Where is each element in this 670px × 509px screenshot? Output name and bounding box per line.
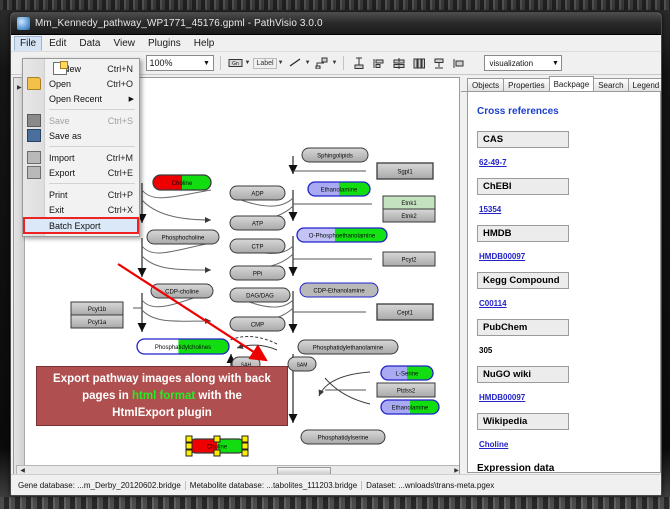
chevron-down-icon[interactable]: ▼ [278,60,284,66]
file-menu-item-label: Save as [49,131,139,141]
node-label: Phosphatidylcholines [155,345,211,351]
xref-label-nugo-wiki: NuGO wiki [477,366,569,383]
file-menu-item-batch-export[interactable]: Batch Export [23,217,139,234]
side-panel: Objects Properties Backpage Search Legen… [460,75,662,475]
align-left-icon[interactable] [370,55,387,72]
toolbar-separator [220,56,221,70]
metabolite-node-cdp-ethanolamine[interactable]: CDP-Ethanolamine [300,283,378,297]
chevron-down-icon: ▼ [549,56,561,70]
xref-value-chebi[interactable]: 15354 [479,205,501,214]
metabolite-node-ethanolamine-bottom[interactable]: Ethanolamine [381,400,439,414]
status-bar: Gene database: ...m_Derby_20120602.bridg… [11,474,662,495]
node-label: Choline [172,181,193,187]
status-dataset: Dataset: ...wnloads\trans-meta.pgex [362,481,498,490]
stack-vertical-icon[interactable] [410,55,427,72]
menu-plugins[interactable]: Plugins [142,36,187,51]
chevron-down-icon: ▼ [201,56,213,70]
callout-line-3: HtmlExport plugin [112,405,212,422]
gene-node-pcyt1b[interactable]: Pcyt1b [71,302,123,315]
node-label: Ethanolamine [392,406,429,412]
xref-value-kegg-compound[interactable]: C00114 [479,299,507,308]
group-elements-icon[interactable] [450,55,467,72]
file-menu-item-open[interactable]: OpenCtrl+O [23,76,139,91]
open-folder-icon [27,77,41,90]
gene-node-etnk1[interactable]: Etnk1 [383,196,435,209]
selection-handle[interactable] [214,436,220,442]
file-menu-item-label: Save [49,116,108,126]
backpage-content: Cross references CAS62-49-7ChEBI15354HMD… [467,92,661,473]
label-tool-button[interactable]: Label [253,58,276,69]
pathvisio-window: Mm_Kennedy_pathway_WP1771_45176.gpml - P… [10,12,662,496]
file-menu-popup[interactable]: NewCtrl+NOpenCtrl+OOpen Recent▶SaveCtrl+… [22,58,140,237]
gene-node-pcyt1a[interactable]: Pcyt1a [71,315,123,328]
node-label: Cept1 [397,311,414,317]
metabolite-node-sam-1[interactable]: SAM [288,357,316,371]
visualization-combobox[interactable]: visualization ▼ [484,55,562,71]
file-menu-item-label: New [63,64,107,74]
node-label: Phosphatidylserine [318,436,369,442]
tab-backpage[interactable]: Backpage [549,76,595,91]
import-icon [27,151,41,164]
metabolite-node-adp[interactable]: ADP [230,186,285,200]
status-metabolite-database: Metabolite database: ...tabolites_111203… [186,481,362,490]
export-icon [27,166,41,179]
node-label: O-Phosphoethanolamine [309,234,376,240]
annotation-callout: Export pathway images along with back pa… [36,366,288,426]
gene-shape-dropdown[interactable]: Gn ▼ [227,55,251,72]
metabolite-node-phosphocholine[interactable]: Phosphocholine [147,230,219,244]
gene-shape-svg: Gn [228,57,243,69]
status-gene-database: Gene database: ...m_Derby_20120602.bridg… [14,481,186,490]
selection-handle[interactable] [214,450,220,456]
node-label: Pcyt1a [88,320,107,326]
node-label: L-Serine [396,372,419,378]
file-menu-item-export[interactable]: ExportCtrl+E [23,165,139,180]
menu-help[interactable]: Help [188,36,221,51]
file-menu-item-label: Exit [49,205,108,215]
new-document-icon [53,62,67,75]
svg-text:Gn: Gn [232,61,239,67]
selection-handle[interactable] [186,450,192,456]
callout-line-1: Export pathway images along with back [53,371,271,388]
metabolite-node-phosphatidylcholines[interactable]: Phosphatidylcholines [137,339,229,354]
selection-handle[interactable] [242,450,248,456]
cross-references-heading: Cross references [477,106,651,117]
file-menu-item-accelerator: Ctrl+X [108,205,139,215]
metabolite-node-choline-selected[interactable]: Choline [186,436,248,456]
file-menu-item-open-recent[interactable]: Open Recent▶ [23,91,139,106]
menu-separator [49,183,135,184]
xref-label-wikipedia: Wikipedia [477,413,569,430]
tab-search[interactable]: Search [593,78,628,91]
node-label: Etnk2 [401,214,417,220]
zoom-value: 100% [150,58,173,68]
side-panel-tabs: Objects Properties Backpage Search Legen… [461,77,661,92]
chevron-down-icon[interactable]: ▼ [332,60,338,66]
expression-data-heading: Expression data [477,463,651,473]
file-menu-item-save-as[interactable]: Save as [23,128,139,143]
interaction-tool-dropdown[interactable]: ▼ [314,55,338,72]
node-label: Sphingolipids [317,154,353,160]
metabolite-node-ppi[interactable]: PPi [230,266,285,280]
node-label: PPi [253,272,262,278]
node-label: DAG/DAG [246,294,274,300]
selection-handle[interactable] [186,436,192,442]
node-label: Etnk1 [401,201,417,207]
menu-edit[interactable]: Edit [43,36,72,51]
align-top-icon[interactable] [350,55,367,72]
chevron-down-icon[interactable]: ▼ [245,60,251,66]
metabolite-node-cmp[interactable]: CMP [230,317,285,331]
visualization-value: visualization [489,59,533,68]
file-menu-item-exit[interactable]: ExitCtrl+X [23,202,139,217]
xref-label-cas: CAS [477,131,569,148]
xref-value-nugo-wiki[interactable]: HMDB00097 [479,393,525,402]
file-menu-item-import[interactable]: ImportCtrl+M [23,150,139,165]
selection-handle[interactable] [242,436,248,442]
submenu-arrow-icon: ▶ [129,95,139,103]
metabolite-node-ethanolamine-top[interactable]: Ethanolamine [308,182,370,196]
metabolite-node-phosphatidylethanolamine[interactable]: Phosphatidylethanolamine [298,340,398,354]
file-menu-item-accelerator: Ctrl+M [106,153,139,163]
file-menu-item-print[interactable]: PrintCtrl+P [23,187,139,202]
align-bottom-icon[interactable] [430,55,447,72]
menu-bar: File Edit Data View Plugins Help [11,35,661,52]
callout-highlight: html format [132,390,195,402]
cross-reference-list: CAS62-49-7ChEBI15354HMDBHMDB00097Kegg Co… [477,131,651,460]
line-tool-dropdown[interactable]: ▼ [287,55,311,72]
line-tool-icon[interactable] [287,55,304,72]
node-label: SAM [297,363,308,369]
gene-node-ptdss2[interactable]: Ptdss2 [377,383,435,397]
menu-view[interactable]: View [107,36,141,51]
file-menu-item-label: Open Recent [49,94,129,104]
node-label: Sgpl1 [397,170,413,176]
gene-node-sgpl1[interactable]: Sgpl1 [377,163,433,179]
selection-handle[interactable] [242,443,248,449]
metabolite-node-atp[interactable]: ATP [230,216,285,230]
label-tool-dropdown[interactable]: Label ▼ [253,58,283,69]
file-menu-item-accelerator: Ctrl+S [108,116,139,126]
gene-node-pcyt2[interactable]: Pcyt2 [383,252,435,266]
save-disk-icon [27,114,41,127]
gene-shape-icon[interactable]: Gn [227,55,244,72]
menu-separator [49,109,135,110]
node-label: ATP [252,222,263,228]
node-label: Ethanolamine [321,188,358,194]
desktop-bottom-noise [0,497,670,509]
node-label: Ptdss2 [397,389,416,395]
metabolite-node-ctp[interactable]: CTP [230,239,285,253]
align-center-v-icon[interactable] [390,55,407,72]
gene-node-etnk2[interactable]: Etnk2 [383,209,435,222]
node-label: CDP-choline [165,290,199,296]
file-menu-item-label: Open [49,79,107,89]
file-menu-item-new[interactable]: NewCtrl+N [23,61,139,76]
metabolite-node-dag-dag[interactable]: DAG/DAG [230,288,290,302]
file-menu-item-accelerator: Ctrl+O [107,79,139,89]
toolbar-separator [343,56,344,70]
file-menu-item-label: Import [49,153,106,163]
metabolite-node-o-phosphoethanolamine[interactable]: O-Phosphoethanolamine [297,228,387,242]
metabolite-node-sphingolipids[interactable]: Sphingolipids [302,148,368,162]
pathvisio-icon [17,17,30,30]
metabolite-node-l-serine[interactable]: L-Serine [381,366,433,380]
callout-line-2: pages in html format with the [82,388,242,405]
tab-properties[interactable]: Properties [503,78,549,91]
file-menu-item-accelerator: Ctrl+N [107,64,139,74]
menu-file[interactable]: File [14,36,42,51]
xref-value-pubchem: 305 [479,346,492,355]
desktop-top-noise [0,0,670,10]
metabolite-node-phosphatidylserine[interactable]: Phosphatidylserine [301,430,385,444]
window-title: Mm_Kennedy_pathway_WP1771_45176.gpml - P… [35,18,323,29]
xref-label-hmdb: HMDB [477,225,569,242]
xref-value-cas[interactable]: 62-49-7 [479,158,507,167]
file-menu-item-label: Print [49,190,108,200]
node-label: Pcyt1b [88,307,107,313]
save-as-icon [27,129,41,142]
node-label: CMP [251,323,264,329]
xref-value-wikipedia[interactable]: Choline [479,440,508,449]
node-label: CDP-Ethanolamine [313,289,365,295]
node-label: Pcyt2 [401,258,417,264]
menu-separator [49,146,135,147]
tab-legend[interactable]: Legend [628,78,662,91]
file-menu-item-accelerator: Ctrl+E [108,168,139,178]
metabolite-node-cdp-choline[interactable]: CDP-choline [151,284,213,298]
node-label: Phosphatidylethanolamine [313,346,384,352]
screenshot-root: Mm_Kennedy_pathway_WP1771_45176.gpml - P… [0,0,670,509]
title-bar: Mm_Kennedy_pathway_WP1771_45176.gpml - P… [11,13,661,35]
file-menu-item-label: Export [49,168,108,178]
selection-handle[interactable] [186,443,192,449]
xref-label-kegg-compound: Kegg Compound [477,272,569,289]
tab-objects[interactable]: Objects [467,78,504,91]
node-label: Phosphocholine [162,236,205,242]
xref-value-hmdb[interactable]: HMDB00097 [479,252,525,261]
xref-label-pubchem: PubChem [477,319,569,336]
xref-label-chebi: ChEBI [477,178,569,195]
chevron-down-icon[interactable]: ▼ [305,60,311,66]
file-menu-item-save: SaveCtrl+S [23,113,139,128]
zoom-combobox[interactable]: 100% ▼ [146,55,214,71]
metabolite-node-choline-top[interactable]: Choline [153,175,211,190]
file-menu-item-label: Batch Export [49,221,137,231]
interaction-tool-icon[interactable] [314,55,331,72]
node-label: ADP [251,192,263,198]
menu-data[interactable]: Data [73,36,106,51]
node-label: CTP [252,245,264,251]
file-menu-item-accelerator: Ctrl+P [108,190,139,200]
chevron-right-icon[interactable]: ▶ [17,84,22,91]
gene-node-cept1[interactable]: Cept1 [377,304,433,320]
callout-line-2-b: with the [195,390,242,402]
callout-line-2-a: pages in [82,390,132,402]
